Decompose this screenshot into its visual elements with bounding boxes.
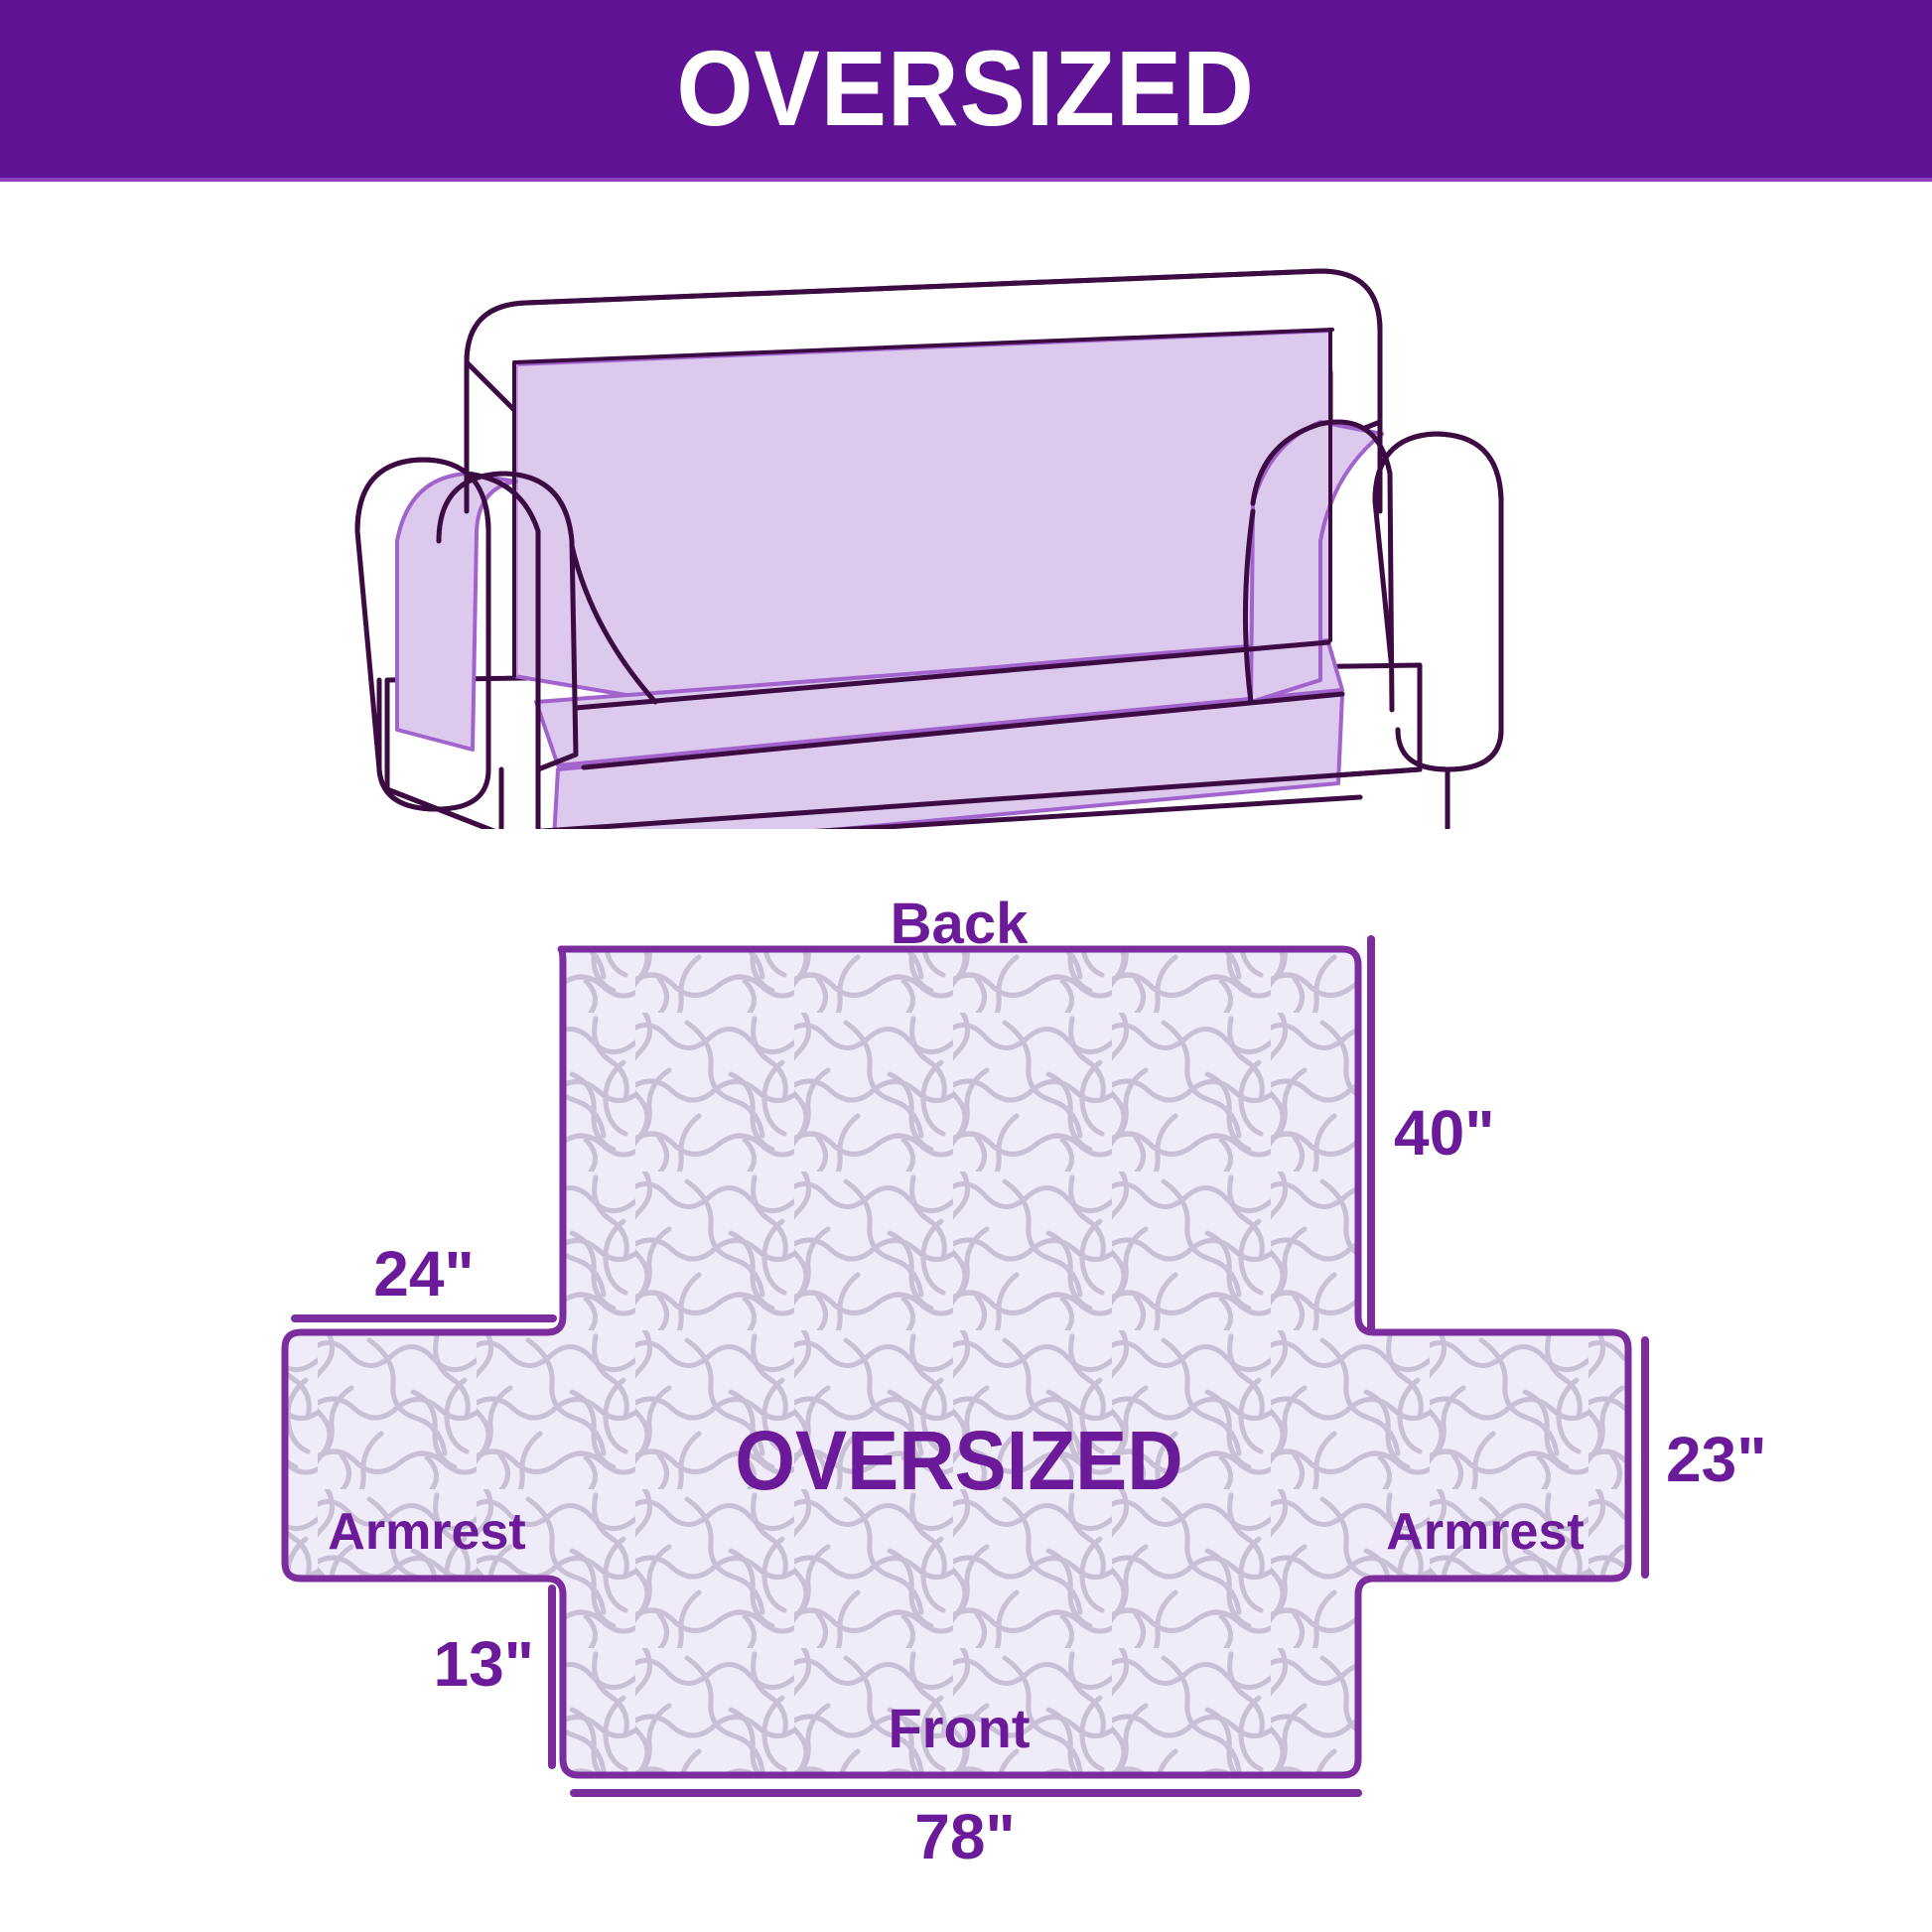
panel-label-armrest-right: Armrest bbox=[1386, 1503, 1584, 1561]
dimension-front-height: 13" bbox=[433, 1588, 552, 1765]
panel-label-back: Back bbox=[891, 892, 1029, 956]
dimension-total-width: 78" bbox=[574, 1793, 1358, 1872]
dimension-back-height: 40" bbox=[1371, 939, 1495, 1328]
sofa-drawing-svg: .ol { fill:none; stroke:#3B0B42; stroke-… bbox=[328, 213, 1608, 829]
header-banner: OVERSIZED bbox=[0, 0, 1932, 182]
dimension-label-13: 13" bbox=[433, 1628, 534, 1700]
dimension-label-23: 23" bbox=[1666, 1424, 1767, 1495]
pattern-center-label: OVERSIZED bbox=[735, 1415, 1182, 1507]
product-dimension-infographic: OVERSIZED .ol { fill:none; stroke:#3B0B4… bbox=[0, 0, 1932, 1932]
dimension-back-offset: 24" bbox=[295, 1238, 553, 1318]
cover-backrest bbox=[514, 331, 1330, 700]
sofa-illustration: .ol { fill:none; stroke:#3B0B42; stroke-… bbox=[328, 213, 1608, 829]
dimension-label-40: 40" bbox=[1394, 1097, 1495, 1169]
panel-label-front: Front bbox=[888, 1697, 1030, 1759]
cover-arm-right bbox=[1251, 422, 1382, 702]
flat-pattern-diagram: Back Armrest Armrest Front OVERSIZED 40"… bbox=[0, 854, 1932, 1932]
dimension-armrest-height: 23" bbox=[1645, 1340, 1767, 1575]
dimension-label-24: 24" bbox=[373, 1238, 475, 1310]
banner-title: OVERSIZED bbox=[677, 35, 1255, 142]
panel-label-armrest-left: Armrest bbox=[328, 1503, 525, 1561]
dimension-label-78: 78" bbox=[914, 1801, 1016, 1872]
pattern-diagram-svg: Back Armrest Armrest Front OVERSIZED 40"… bbox=[0, 854, 1932, 1932]
